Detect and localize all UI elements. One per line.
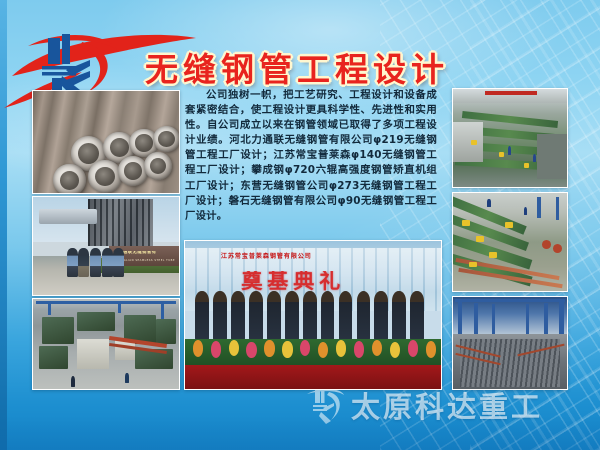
photo-factory-gate: 北力通联无缝钢管有 LITONGLIAN SEAMLESS STEEL TUBE: [32, 196, 180, 296]
ceremony-attendees: [185, 291, 441, 340]
company-logo: [22, 30, 118, 98]
photo-workshop-assembly: [452, 88, 568, 188]
photo-rolling-mill-line: [32, 298, 180, 390]
page-title: 无缝钢管工程设计: [132, 44, 462, 90]
left-edge-stripe: [0, 0, 7, 450]
photo-ceremony: 江苏常宝普莱森钢管有限公司 奠基典礼: [184, 240, 442, 390]
photo-equipment-yard: [452, 192, 568, 292]
bottom-gradient-haze: [0, 416, 600, 450]
photo-pipe-stack: [32, 90, 180, 194]
watermark-logo-icon: [305, 386, 345, 424]
description-paragraph: 公司独树一帜，把工艺研究、工程设计和设备成套紧密结合，使工程设计更具科学性、先进…: [185, 88, 437, 224]
photo-cooling-bed-hall: [452, 296, 568, 390]
watermark-text: 太原科达重工: [351, 384, 543, 426]
banner-company-name: 江苏常宝普莱森钢管有限公司: [221, 254, 431, 267]
poster-page: 无缝钢管工程设计 公司独树一帜，把工艺研究、工程设计和设备成套紧密结合，使工程设…: [0, 0, 600, 450]
